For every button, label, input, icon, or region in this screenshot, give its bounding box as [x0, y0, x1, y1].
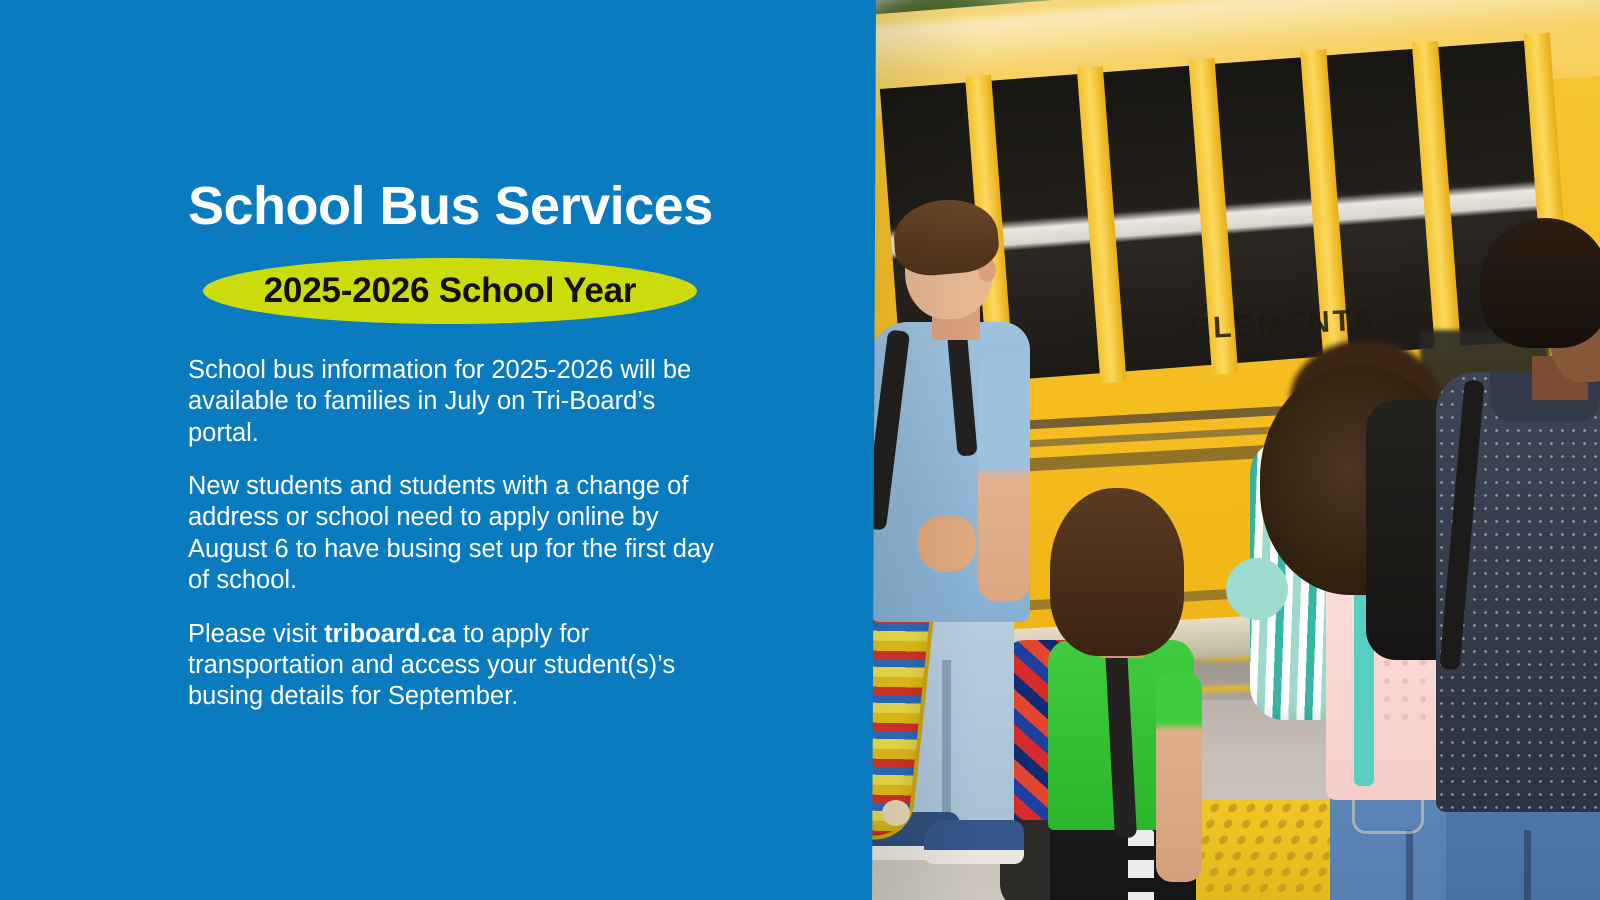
teen-arm: [978, 352, 1030, 602]
girl-jeans-seam: [1406, 830, 1413, 900]
body-paragraphs: School bus information for 2025-2026 wil…: [188, 355, 726, 735]
boy4-jeans-seam: [1524, 830, 1531, 900]
paragraph-text: School bus information for 2025-2026 wil…: [188, 356, 691, 447]
triboard-website-link[interactable]: triboard.ca: [324, 620, 456, 648]
paragraph-visit-site: Please visit triboard.ca to apply for tr…: [188, 619, 726, 713]
paragraph-text: New students and students with a change …: [188, 472, 714, 594]
boy4-hair: [1480, 218, 1600, 348]
school-year-badge: 2025-2026 School Year: [203, 258, 697, 324]
paragraph-apply-deadline: New students and students with a change …: [188, 471, 726, 596]
blue-info-panel: School Bus Services 2025-2026 School Yea…: [0, 0, 876, 900]
shorts-graphic-print: [1128, 830, 1154, 900]
students-boarding-bus-photo: ELEMENTA: [860, 0, 1600, 900]
paragraph-text-lead: Please visit: [188, 620, 324, 648]
school-bus-services-poster: ELEMENTA: [0, 0, 1600, 900]
backpack-pompom: [1226, 558, 1288, 620]
boy2-arm: [1156, 672, 1202, 882]
teen-hand-gripping-board: [918, 516, 976, 572]
paragraph-availability: School bus information for 2025-2026 wil…: [188, 355, 726, 449]
teen-sneaker-sole: [924, 850, 1024, 864]
page-title: School Bus Services: [188, 178, 748, 235]
school-year-badge-label: 2025-2026 School Year: [264, 271, 637, 311]
boy2-hair: [1050, 488, 1184, 656]
